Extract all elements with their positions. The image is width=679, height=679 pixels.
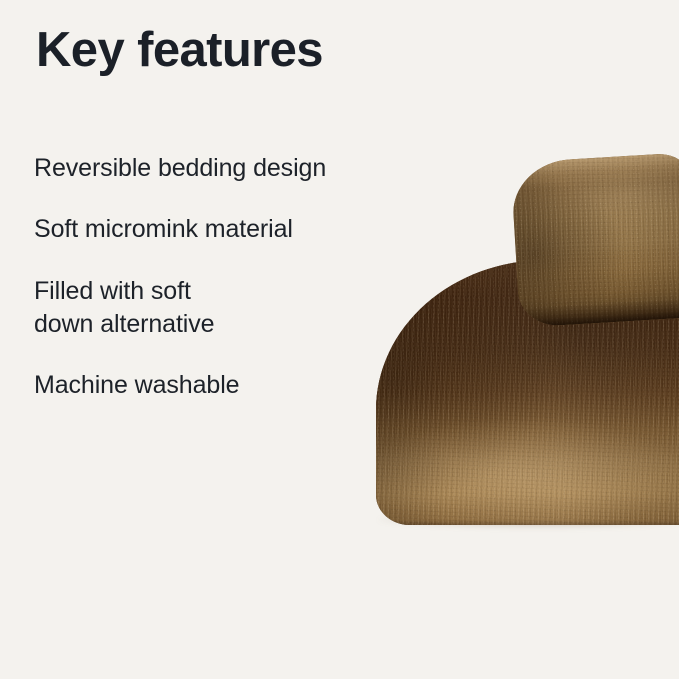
feature-list: Reversible bedding design Soft micromink… (34, 152, 334, 402)
feature-item-machine-washable: Machine washable (34, 369, 334, 402)
lower-pillow-sheen (376, 406, 679, 525)
product-image-micromink-bedding-stack (348, 130, 679, 540)
key-features-panel: Key features Reversible bedding design S… (0, 0, 679, 679)
feature-item-filled-with-soft-down-alternative: Filled with soft down alternative (34, 275, 334, 342)
feature-item-reversible-bedding-design: Reversible bedding design (34, 152, 334, 185)
upper-pillow (510, 152, 679, 327)
page-title: Key features (36, 22, 323, 79)
feature-item-soft-micromink-material: Soft micromink material (34, 213, 334, 246)
